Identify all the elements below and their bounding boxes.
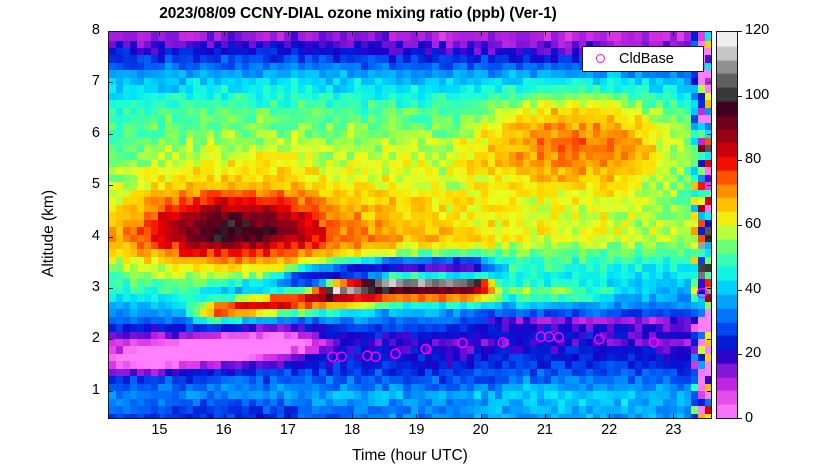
cldbase-marker: [649, 338, 658, 347]
x-tick-mark: [288, 31, 289, 36]
cldbase-marker: [328, 352, 337, 361]
y-tick-mark: [108, 237, 113, 238]
colorbar-tick-label-20: 20: [745, 345, 761, 361]
y-tick-label-6: 6: [72, 125, 100, 141]
x-tick-label-23: 23: [653, 422, 693, 438]
x-tick-mark: [288, 414, 289, 419]
y-tick-mark: [108, 339, 113, 340]
x-tick-label-18: 18: [332, 422, 372, 438]
colorbar-gradient: [717, 32, 737, 418]
y-axis-title: Altitude (km): [40, 190, 58, 277]
y-tick-mark: [108, 391, 113, 392]
x-axis-title: Time (hour UTC): [108, 447, 712, 465]
x-tick-label-15: 15: [139, 422, 179, 438]
x-tick-label-21: 21: [525, 422, 565, 438]
colorbar-tick-label-40: 40: [745, 281, 761, 297]
colorbar-tick-label-100: 100: [745, 87, 769, 103]
x-tick-mark: [673, 414, 674, 419]
colorbar-tick-mark: [738, 290, 742, 291]
cldbase-circle-icon: [583, 50, 617, 68]
heatmap-axes[interactable]: [108, 31, 712, 419]
y-tick-mark: [108, 82, 113, 83]
y-tick-mark: [707, 185, 712, 186]
x-tick-mark: [481, 31, 482, 36]
y-tick-mark: [108, 134, 113, 135]
y-tick-mark: [707, 339, 712, 340]
colorbar-tick-label-0: 0: [745, 410, 753, 426]
y-tick-mark: [108, 185, 113, 186]
colorbar-tick-mark: [738, 160, 742, 161]
x-tick-mark: [224, 414, 225, 419]
x-tick-mark: [159, 414, 160, 419]
x-tick-mark: [545, 31, 546, 36]
figure-title: 2023/08/09 CCNY-DIAL ozone mixing ratio …: [0, 5, 716, 23]
colorbar-tick-mark: [738, 31, 742, 32]
y-tick-mark: [108, 288, 113, 289]
y-tick-mark: [108, 31, 113, 32]
x-tick-mark: [416, 414, 417, 419]
cldbase-marker: [337, 352, 346, 361]
y-tick-label-5: 5: [72, 176, 100, 192]
x-tick-mark: [416, 31, 417, 36]
colorbar-tick-mark: [738, 96, 742, 97]
y-tick-mark: [707, 134, 712, 135]
x-tick-mark: [481, 414, 482, 419]
legend-label: CldBase: [617, 51, 674, 67]
x-tick-mark: [673, 31, 674, 36]
cldbase-marker-layer: [109, 32, 712, 419]
x-tick-label-22: 22: [589, 422, 629, 438]
y-tick-mark: [707, 82, 712, 83]
cldbase-marker: [391, 349, 400, 358]
y-tick-label-4: 4: [72, 228, 100, 244]
legend-box[interactable]: CldBase: [582, 46, 704, 72]
y-tick-label-2: 2: [72, 330, 100, 346]
x-tick-mark: [609, 414, 610, 419]
figure-canvas: 2023/08/09 CCNY-DIAL ozone mixing ratio …: [0, 0, 839, 474]
colorbar[interactable]: [716, 31, 738, 419]
x-tick-label-17: 17: [268, 422, 308, 438]
colorbar-tick-label-120: 120: [745, 22, 769, 38]
y-tick-mark: [707, 237, 712, 238]
y-tick-mark: [707, 391, 712, 392]
x-tick-label-20: 20: [461, 422, 501, 438]
x-tick-mark: [224, 31, 225, 36]
colorbar-tick-mark: [738, 354, 742, 355]
cldbase-marker: [458, 338, 467, 347]
x-tick-label-19: 19: [396, 422, 436, 438]
cldbase-marker: [698, 289, 707, 298]
cldbase-marker: [421, 345, 430, 354]
x-tick-mark: [352, 414, 353, 419]
y-tick-label-1: 1: [72, 382, 100, 398]
y-tick-label-3: 3: [72, 279, 100, 295]
y-tick-label-8: 8: [72, 22, 100, 38]
x-tick-mark: [545, 414, 546, 419]
y-tick-label-7: 7: [72, 73, 100, 89]
colorbar-tick-mark: [738, 225, 742, 226]
cldbase-marker: [595, 335, 604, 344]
colorbar-tick-mark: [738, 418, 742, 419]
cldbase-marker: [554, 333, 563, 342]
x-tick-mark: [352, 31, 353, 36]
x-tick-mark: [609, 31, 610, 36]
colorbar-tick-label-60: 60: [745, 216, 761, 232]
x-tick-label-16: 16: [204, 422, 244, 438]
y-tick-mark: [707, 31, 712, 32]
y-tick-mark: [707, 288, 712, 289]
colorbar-tick-label-80: 80: [745, 151, 761, 167]
cldbase-marker: [498, 338, 507, 347]
x-tick-mark: [159, 31, 160, 36]
